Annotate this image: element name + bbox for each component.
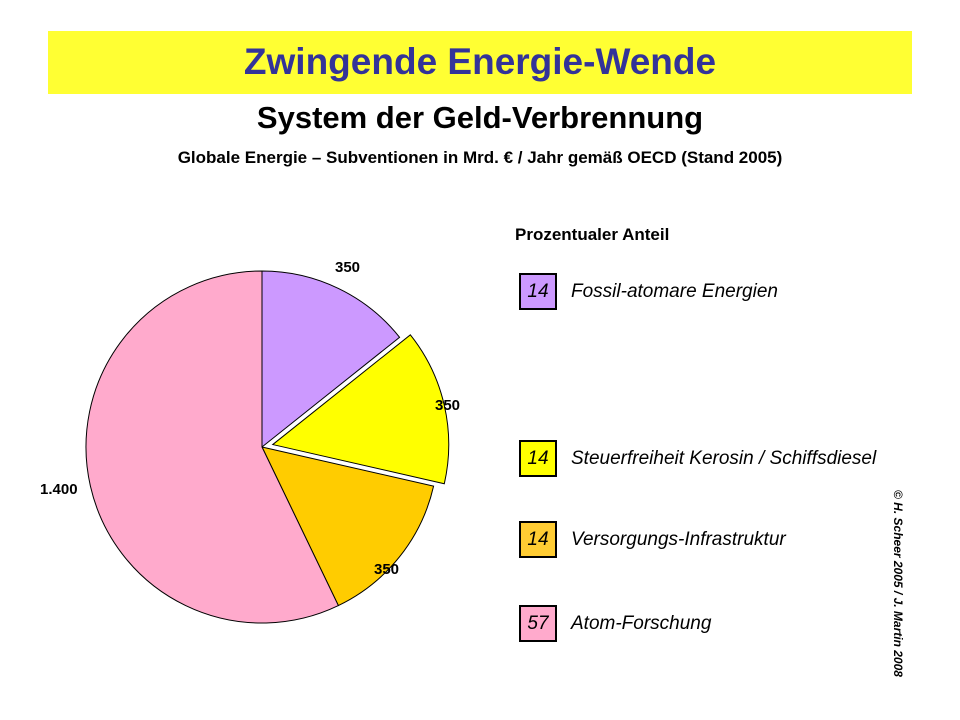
pie-value-label-fossil: 350 [335, 259, 360, 276]
legend-swatch-fossil-atomare-energien: 14 [519, 273, 557, 310]
legend-swatch-steuerfreiheit-kerosin: 14 [519, 440, 557, 477]
legend-item-versorgungs-infrastruktur: 14 Versorgungs-Infrastruktur [519, 521, 786, 558]
copyright-notice: © H. Scheer 2005 / J. Martin 2008 [891, 490, 905, 720]
legend-item-steuerfreiheit-kerosin: 14 Steuerfreiheit Kerosin / Schiffsdiese… [519, 440, 876, 477]
pie-chart [60, 255, 480, 655]
pie-chart-svg [60, 255, 480, 655]
legend-label-atom-forschung: Atom-Forschung [571, 613, 711, 635]
legend-item-fossil-atomare-energien: 14 Fossil-atomare Energien [519, 273, 778, 310]
page-title: Zwingende Energie-Wende [48, 36, 912, 88]
legend-swatch-versorgungs-infrastruktur: 14 [519, 521, 557, 558]
pie-value-label-infrastruktur: 350 [374, 561, 399, 578]
legend-swatch-atom-forschung: 57 [519, 605, 557, 642]
legend-label-fossil-atomare-energien: Fossil-atomare Energien [571, 281, 778, 303]
pie-value-label-atomforschung: 1.400 [40, 481, 78, 498]
legend-item-atom-forschung: 57 Atom-Forschung [519, 605, 711, 642]
subtitle: System der Geld-Verbrennung [0, 100, 960, 136]
legend-heading: Prozentualer Anteil [515, 225, 669, 245]
legend-label-steuerfreiheit-kerosin: Steuerfreiheit Kerosin / Schiffsdiesel [571, 448, 876, 470]
pie-value-label-kerosin: 350 [435, 397, 460, 414]
source-line: Globale Energie – Subventionen in Mrd. €… [0, 148, 960, 168]
legend-label-versorgungs-infrastruktur: Versorgungs-Infrastruktur [571, 529, 786, 551]
